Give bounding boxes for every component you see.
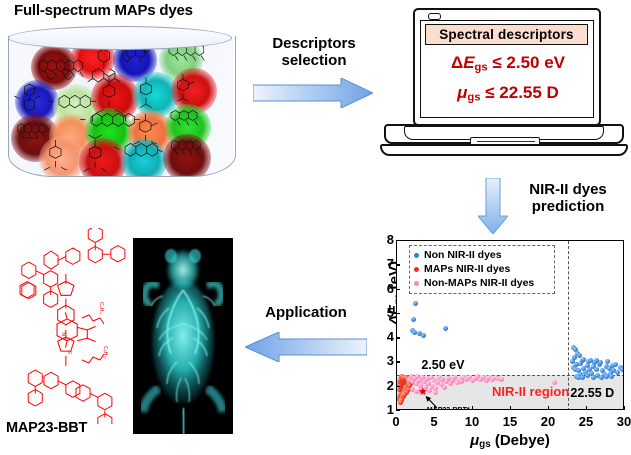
annotation-dipole-threshold: 22.55 D: [570, 386, 614, 400]
dye-sphere: [121, 138, 167, 177]
mu-symbol: μ: [470, 432, 479, 449]
arrow-left-application: [245, 332, 367, 362]
annotation-energy-threshold: 2.50 eV: [421, 358, 464, 372]
chart-legend: Non NIR-II dyesMAPs NIR-II dyesNon-MAPs …: [409, 245, 555, 294]
map23-bbt-molecule-structure: C₈H₁₇ C₈H₁₇ N S: [8, 228, 140, 424]
x-unit: (Debye): [491, 432, 550, 449]
legend-item[interactable]: Non-MAPs NIR-II dyes: [414, 276, 550, 290]
x-axis-tick-mark: [472, 406, 473, 410]
data-point: [598, 360, 603, 365]
y-axis-tick-mark: [396, 240, 400, 241]
legend-item[interactable]: Non NIR-II dyes: [414, 248, 550, 262]
y-axis-tick-label: 4: [380, 329, 394, 344]
y-axis-tick-label: 8: [380, 232, 394, 247]
delta-symbol: Δ: [451, 53, 463, 72]
x-axis-tick-mark: [586, 406, 587, 410]
data-point: [411, 317, 416, 322]
gs-subscript: gs: [479, 439, 491, 450]
descriptors-selection-line2: selection: [252, 53, 376, 70]
x-axis-label: μgs (Debye): [396, 432, 624, 450]
prediction-line1: NIR-II dyes: [505, 182, 631, 199]
molecule-name-label: MAP23-BBT: [6, 420, 87, 436]
map23-bbt-star-marker: ★: [418, 387, 428, 398]
plot-area: ★ 2.50 eV 22.55 D NIR-II region MAP23-BB…: [396, 240, 624, 410]
annotation-nir2-region: NIR-II region: [492, 384, 569, 399]
y-axis-tick-label: 7: [380, 256, 394, 271]
data-point: [443, 326, 448, 331]
x-axis-tick-label: 20: [538, 414, 558, 429]
data-point: [594, 367, 599, 372]
legend-marker-icon: [414, 253, 419, 258]
laptop-panel: Spectral descriptors ΔEgs ≤ 2.50 eV μgs …: [378, 4, 631, 172]
x-axis-tick-mark: [510, 406, 511, 410]
dye-sphere: [163, 134, 211, 177]
x-axis-tick-label: 0: [386, 414, 406, 429]
application-panel: C₈H₁₇ C₈H₁₇ N S MAP23-BBT: [0, 228, 245, 455]
data-point: [433, 390, 438, 395]
data-point: [580, 375, 585, 380]
svg-text:C₈H₁₇: C₈H₁₇: [102, 346, 108, 359]
data-point: [588, 358, 593, 363]
data-point: [615, 370, 620, 375]
legend-marker-icon: [414, 281, 419, 286]
spectral-descriptors-header: Spectral descriptors: [425, 24, 588, 45]
descriptor-energy-gap: ΔEgs ≤ 2.50 eV: [421, 53, 594, 73]
x-axis-tick-label: 5: [424, 414, 444, 429]
beaker-of-dyes: [8, 26, 236, 186]
arrow-down-prediction: [478, 178, 508, 234]
descriptors-selection-label: Descriptors selection: [252, 36, 376, 70]
gs-subscript: gs: [475, 61, 488, 73]
y-axis-tick-mark: [396, 313, 400, 314]
x-axis-tick-label: 25: [576, 414, 596, 429]
svg-text:N: N: [62, 332, 68, 336]
scatter-chart-panel: ΔEgs (eV) ★ 2.50 eV 22.55 D NIR-II regio…: [374, 234, 631, 455]
y-axis-tick-mark: [396, 410, 400, 411]
y-axis-tick-mark: [396, 337, 400, 338]
energy-relation: ≤ 2.50 eV: [492, 53, 565, 72]
dye-sphere: [39, 136, 85, 177]
y-axis-tick-label: 2: [380, 378, 394, 393]
legend-label: MAPs NIR-II dyes: [424, 263, 510, 275]
data-point: [421, 333, 426, 338]
y-axis-tick-mark: [396, 386, 400, 387]
beaker-rim: [8, 26, 232, 50]
dyes-panel-title: Full-spectrum MAPs dyes: [14, 2, 193, 19]
dyes-panel: Full-spectrum MAPs dyes: [0, 0, 250, 200]
legend-item[interactable]: MAPs NIR-II dyes: [414, 262, 550, 276]
arrow-right-descriptors: [253, 78, 373, 108]
legend-label: Non-MAPs NIR-II dyes: [424, 277, 534, 289]
E-symbol: E: [463, 53, 474, 72]
data-point: [620, 367, 624, 372]
gs-subscript: gs: [467, 91, 480, 103]
legend-label: Non NIR-II dyes: [424, 249, 502, 261]
svg-text:C₈H₁₇: C₈H₁₇: [98, 302, 104, 315]
laptop-camera-icon: [428, 13, 441, 20]
y-axis-tick-label: 5: [380, 305, 394, 320]
legend-marker-icon: [414, 267, 419, 272]
x-axis-tick-mark: [396, 406, 397, 410]
y-axis-tick-label: 3: [380, 353, 394, 368]
beaker-body: [8, 36, 236, 177]
y-axis-tick-mark: [396, 264, 400, 265]
y-axis-tick-mark: [396, 289, 400, 290]
descriptors-selection-line1: Descriptors: [252, 36, 376, 53]
x-axis-tick-label: 10: [462, 414, 482, 429]
prediction-line2: prediction: [505, 199, 631, 216]
y-axis-tick-mark: [396, 361, 400, 362]
descriptor-dipole: μgs ≤ 22.55 D: [421, 83, 594, 103]
nir2-mouse-fluorescence-image: [133, 238, 233, 434]
y-axis-tick-label: 6: [380, 281, 394, 296]
x-axis-tick-label: 30: [614, 414, 631, 429]
mu-symbol: μ: [457, 83, 467, 102]
x-axis-tick-mark: [548, 406, 549, 410]
x-axis-tick-mark: [624, 406, 625, 410]
x-axis-tick-label: 15: [500, 414, 520, 429]
x-axis-tick-mark: [434, 406, 435, 410]
data-point: [609, 374, 614, 379]
application-label: Application: [243, 304, 369, 321]
dipole-relation: ≤ 22.55 D: [485, 83, 559, 102]
data-point: [413, 301, 418, 306]
laptop-screen: Spectral descriptors ΔEgs ≤ 2.50 eV μgs …: [420, 20, 594, 118]
laptop-front-edge: [380, 144, 628, 156]
nir2-prediction-label: NIR-II dyes prediction: [505, 182, 631, 216]
